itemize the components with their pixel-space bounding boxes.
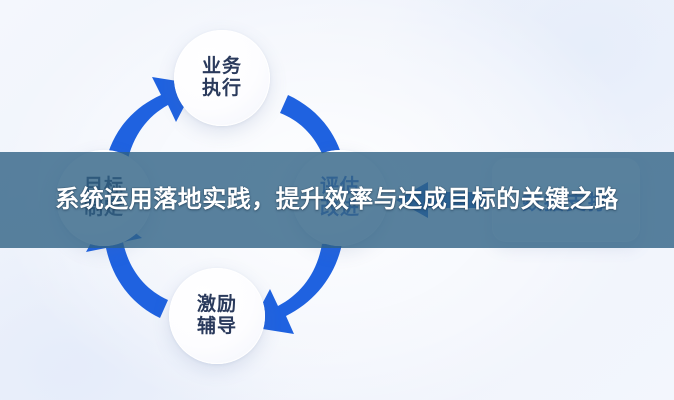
- node-incentive-coaching[interactable]: 激励 辅导: [169, 268, 265, 364]
- slide-canvas: 业务 执行 评估 改进 激励 辅导 目标 制定 数据支撑 系统运用落地实践，提升…: [0, 0, 674, 400]
- node-incentive-coaching-line2: 辅导: [197, 316, 237, 338]
- page-title: 系统运用落地实践，提升效率与达成目标的关键之路: [55, 184, 619, 216]
- node-business-execution-line1: 业务: [202, 56, 242, 78]
- node-incentive-coaching-line1: 激励: [197, 294, 237, 316]
- title-overlay-band: 系统运用落地实践，提升效率与达成目标的关键之路: [0, 152, 674, 248]
- node-business-execution-line2: 执行: [202, 78, 242, 100]
- node-business-execution[interactable]: 业务 执行: [174, 30, 270, 126]
